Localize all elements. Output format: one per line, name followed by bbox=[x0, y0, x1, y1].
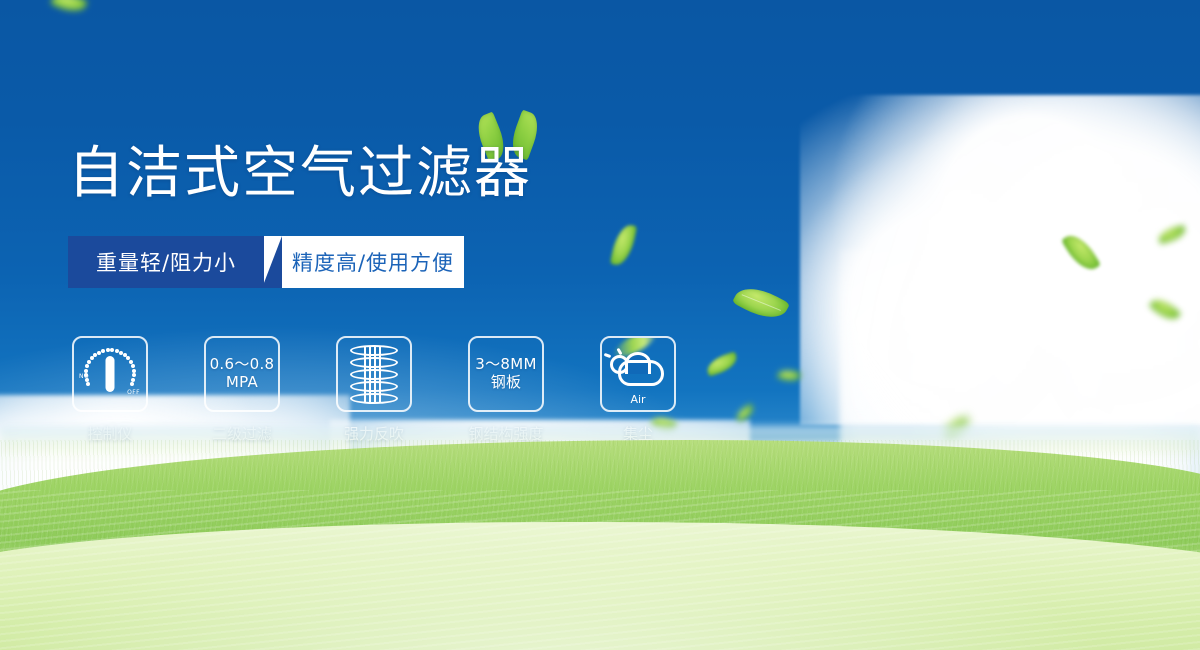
control-dial-icon: NO OFF bbox=[79, 345, 141, 403]
air-label: Air bbox=[606, 393, 670, 406]
grass-field bbox=[0, 440, 1200, 650]
coil-ring bbox=[350, 357, 398, 368]
cloud-body bbox=[618, 360, 664, 386]
steel-material: 钢板 bbox=[475, 374, 536, 392]
tagline-right-text: 精度高/使用方便 bbox=[264, 236, 464, 288]
dial-tick-dot bbox=[110, 348, 114, 352]
dial-tick-dot bbox=[90, 356, 94, 360]
dial-tick-dot bbox=[101, 349, 105, 353]
dial-tick-dot bbox=[86, 382, 90, 386]
pressure-unit: MPA bbox=[210, 374, 275, 392]
dial-tick-dot bbox=[130, 382, 134, 386]
sun-ray bbox=[604, 353, 612, 358]
pressure-value-icon: 0.6～0.8 MPA bbox=[210, 356, 275, 391]
filter-coil-icon bbox=[346, 343, 402, 405]
dial-tick-dot bbox=[87, 360, 91, 364]
pressure-range: 0.6～0.8 bbox=[210, 356, 275, 374]
coil-ring bbox=[350, 381, 398, 392]
coil-ring bbox=[350, 345, 398, 356]
steel-thickness: 3～8MM bbox=[475, 356, 536, 374]
dial-off-label: OFF bbox=[127, 389, 140, 396]
dial-tick-dot bbox=[84, 369, 88, 373]
dial-tick-dot bbox=[132, 373, 136, 377]
steel-thickness-icon: 3～8MM 钢板 bbox=[475, 356, 536, 391]
page-title: 自洁式空气过滤器 bbox=[68, 146, 532, 202]
tagline-bar: 重量轻/阻力小 精度高/使用方便 bbox=[68, 236, 464, 288]
coil-ring bbox=[350, 369, 398, 380]
feature-icon-box: Air bbox=[600, 336, 676, 412]
product-hero-banner: 自洁式空气过滤器 重量轻/阻力小 精度高/使用方便 NO OFF 控制仪 0.6… bbox=[0, 0, 1200, 650]
leaf-vein bbox=[742, 295, 781, 312]
dial-tick-dot bbox=[131, 364, 135, 368]
coil-ring bbox=[350, 393, 398, 404]
hill-sunlight-sheen bbox=[0, 490, 1200, 650]
dial-indicator-bar bbox=[106, 356, 115, 392]
tagline-left-text: 重量轻/阻力小 bbox=[68, 236, 264, 288]
dial-tick-dot bbox=[106, 348, 110, 352]
feature-icon-box bbox=[336, 336, 412, 412]
feature-icon-box: 0.6～0.8 MPA bbox=[204, 336, 280, 412]
feature-icon-box: NO OFF bbox=[72, 336, 148, 412]
dial-tick-dot bbox=[85, 378, 89, 382]
dial-tick-dot bbox=[132, 369, 136, 373]
feature-icon-box: 3～8MM 钢板 bbox=[468, 336, 544, 412]
dial-tick-dot bbox=[85, 364, 89, 368]
cloud-sun-air-icon: Air bbox=[606, 344, 670, 404]
